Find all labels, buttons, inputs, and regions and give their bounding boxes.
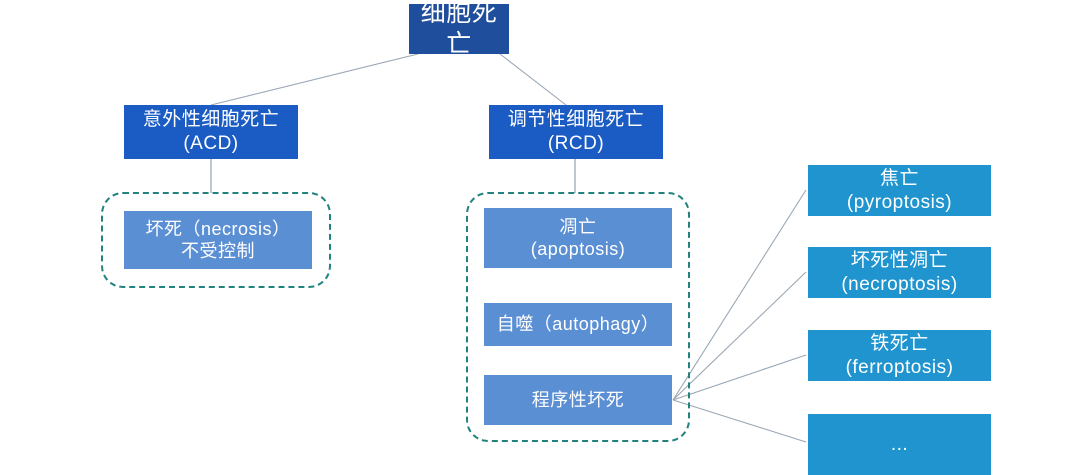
node-necrosis[interactable]: 坏死（necrosis） 不受控制 bbox=[124, 211, 312, 269]
node-rcd[interactable]: 调节性细胞死亡 (RCD) bbox=[489, 105, 663, 159]
edge-pn-to-pyroptosis bbox=[673, 190, 806, 400]
edge-pn-to-ferroptosis bbox=[673, 355, 806, 400]
node-autophagy[interactable]: 自噬（autophagy） bbox=[484, 303, 672, 346]
node-ferroptosis[interactable]: 铁死亡 (ferroptosis) bbox=[808, 330, 991, 381]
edge-pn-to-necroptosis bbox=[673, 272, 806, 400]
node-root-cell-death[interactable]: 细胞死亡 bbox=[409, 4, 509, 54]
node-programmed-necrosis[interactable]: 程序性坏死 bbox=[484, 375, 672, 425]
node-pyroptosis[interactable]: 焦亡 (pyroptosis) bbox=[808, 165, 991, 216]
edge-root-to-acd bbox=[211, 54, 418, 105]
node-necroptosis[interactable]: 坏死性凋亡 (necroptosis) bbox=[808, 247, 991, 298]
edge-pn-to-more bbox=[673, 400, 806, 442]
edge-root-to-rcd bbox=[500, 54, 566, 105]
node-acd[interactable]: 意外性细胞死亡 (ACD) bbox=[124, 105, 298, 159]
diagram-canvas: 细胞死亡 意外性细胞死亡 (ACD) 调节性细胞死亡 (RCD) 坏死（necr… bbox=[0, 0, 1080, 475]
node-apoptosis[interactable]: 凋亡 (apoptosis) bbox=[484, 208, 672, 268]
node-more[interactable]: ... bbox=[808, 414, 991, 475]
